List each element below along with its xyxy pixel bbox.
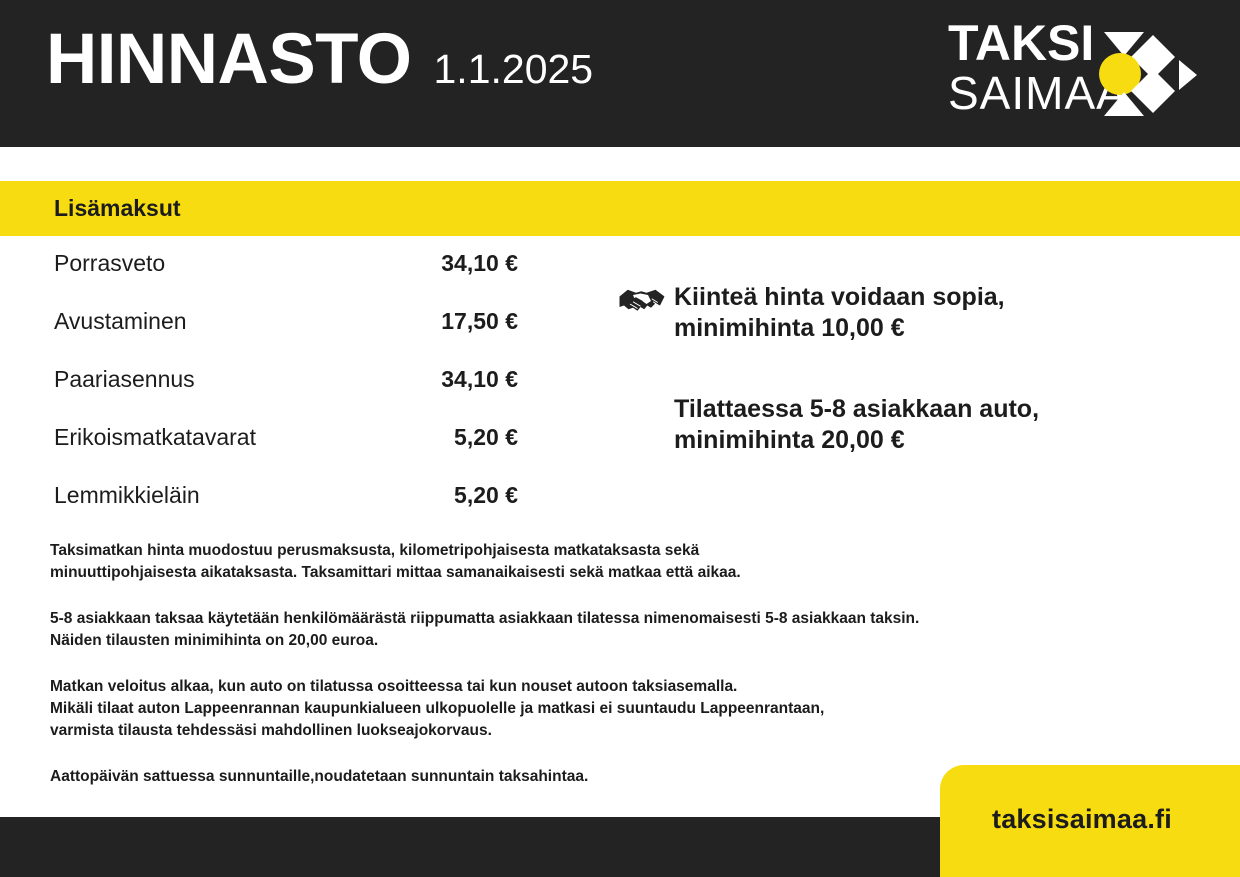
handshake-icon xyxy=(618,282,674,321)
note-group-booking-text: Tilattaessa 5-8 asiakkaan auto, minimihi… xyxy=(674,395,1039,454)
price-item-value: 5,20 € xyxy=(454,424,518,451)
brand-name-primary: TAKSI xyxy=(948,18,1098,68)
surcharge-price-list: Porrasveto 34,10 € Avustaminen 17,50 € P… xyxy=(54,250,518,540)
brand-wordmark: TAKSI SAIMAA xyxy=(948,18,1098,118)
price-item-value: 34,10 € xyxy=(441,250,518,277)
note-group-booking: Tilattaessa 5-8 asiakkaan auto, minimihi… xyxy=(618,394,1198,456)
table-row: Lemmikkieläin 5,20 € xyxy=(54,482,518,540)
header-title-group: HINNASTO 1.1.2025 xyxy=(46,24,593,95)
price-item-value: 34,10 € xyxy=(441,366,518,393)
terms-paragraph: Matkan veloitus alkaa, kun auto on tilat… xyxy=(50,676,1200,742)
table-row: Erikoismatkatavarat 5,20 € xyxy=(54,424,518,482)
price-item-label: Erikoismatkatavarat xyxy=(54,424,256,451)
page-title: HINNASTO xyxy=(46,24,412,95)
price-item-label: Avustaminen xyxy=(54,308,187,335)
price-item-value: 5,20 € xyxy=(454,482,518,509)
brand-name-secondary: SAIMAA xyxy=(948,68,1098,118)
price-item-label: Porrasveto xyxy=(54,250,165,277)
page-header: HINNASTO 1.1.2025 TAKSI SAIMAA xyxy=(0,0,1240,147)
website-url[interactable]: taksisaimaa.fi xyxy=(992,804,1172,835)
terms-paragraph: 5-8 asiakkaan taksaa käytetään henkilömä… xyxy=(50,608,1200,652)
brand-logo: TAKSI SAIMAA xyxy=(948,18,1198,130)
effective-date: 1.1.2025 xyxy=(434,49,594,90)
price-item-value: 17,50 € xyxy=(441,308,518,335)
price-item-label: Paariasennus xyxy=(54,366,195,393)
terms-paragraph: Taksimatkan hinta muodostuu perusmaksust… xyxy=(50,540,1200,584)
fixed-price-notes: Kiinteä hinta voidaan sopia, minimihinta… xyxy=(618,282,1198,456)
table-row: Avustaminen 17,50 € xyxy=(54,308,518,366)
taksi-saimaa-diamond-mark xyxy=(1096,18,1198,130)
table-row: Porrasveto 34,10 € xyxy=(54,250,518,308)
section-band: Lisämaksut xyxy=(0,181,1240,236)
note-fixed-price: Kiinteä hinta voidaan sopia, minimihinta… xyxy=(618,282,1198,344)
section-band-label: Lisämaksut xyxy=(54,195,181,222)
price-item-label: Lemmikkieläin xyxy=(54,482,200,509)
note-fixed-price-text: Kiinteä hinta voidaan sopia, minimihinta… xyxy=(674,282,1005,344)
triangle-right-icon xyxy=(1179,60,1197,90)
website-badge[interactable]: taksisaimaa.fi xyxy=(940,765,1240,877)
terms-and-conditions: Taksimatkan hinta muodostuu perusmaksust… xyxy=(50,540,1200,788)
table-row: Paariasennus 34,10 € xyxy=(54,366,518,424)
